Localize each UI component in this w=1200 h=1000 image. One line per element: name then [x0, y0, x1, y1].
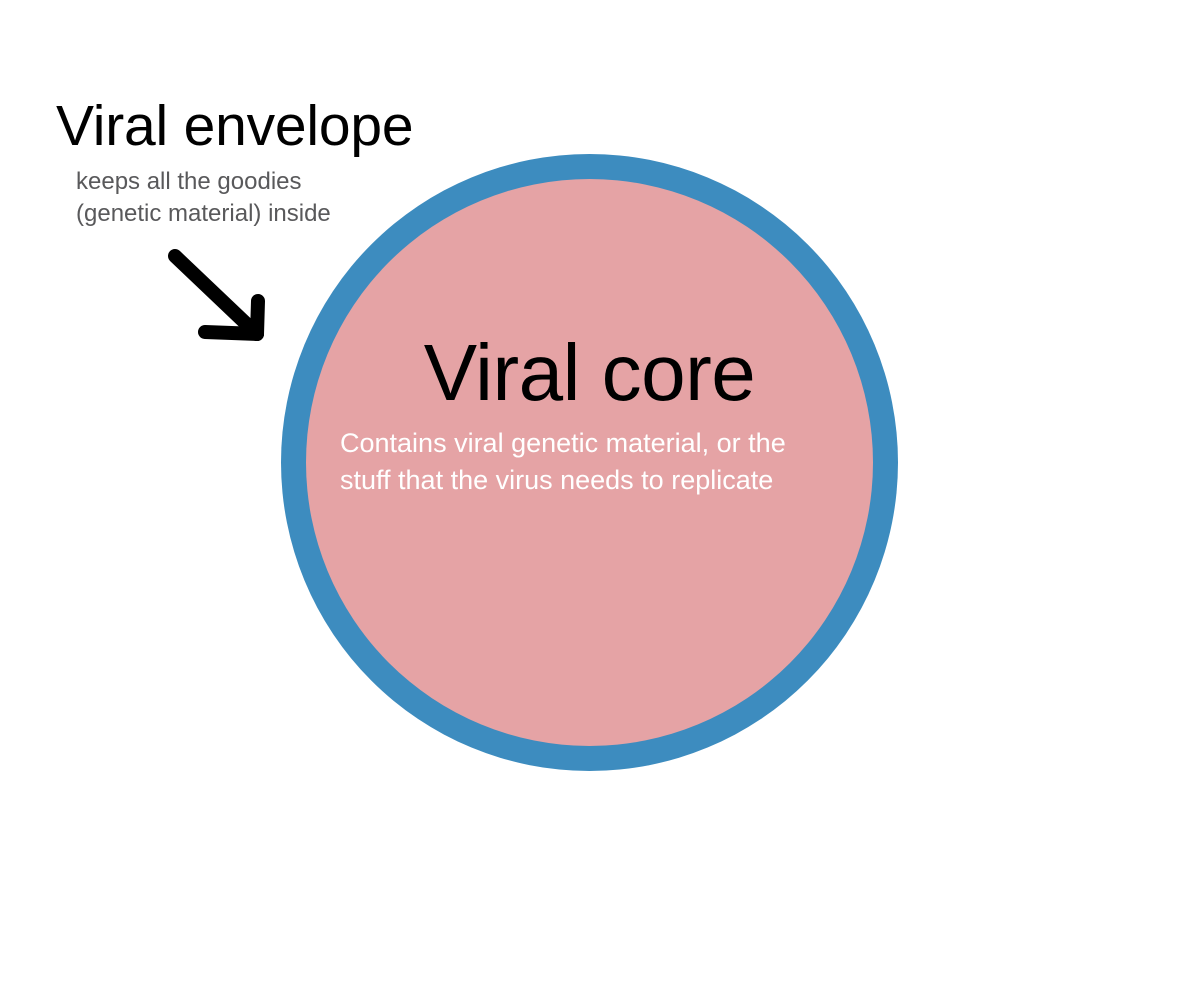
viral-core-callout: Viral core Contains viral genetic materi… — [281, 325, 898, 499]
arrow-head-horizontal — [205, 332, 257, 334]
viral-envelope-callout: Viral envelope keeps all the goodies (ge… — [56, 92, 486, 230]
viral-core-description-line-2: stuff that the virus needs to replicate — [340, 462, 858, 499]
viral-core-title: Viral core — [281, 325, 898, 421]
viral-envelope-title: Viral envelope — [56, 92, 486, 160]
viral-envelope-description: keeps all the goodies (genetic material)… — [76, 166, 486, 230]
viral-envelope-description-line-1: keeps all the goodies — [76, 166, 486, 198]
annotation-arrow — [160, 240, 280, 355]
arrow-down-right-icon — [160, 240, 280, 355]
arrow-shaft — [175, 256, 257, 334]
viral-core-description: Contains viral genetic material, or the … — [281, 425, 898, 499]
arrow-head-vertical — [257, 301, 258, 334]
diagram-canvas: Viral envelope keeps all the goodies (ge… — [0, 0, 1200, 1000]
viral-core-description-line-1: Contains viral genetic material, or the — [340, 425, 858, 462]
viral-envelope-description-line-2: (genetic material) inside — [76, 198, 486, 230]
